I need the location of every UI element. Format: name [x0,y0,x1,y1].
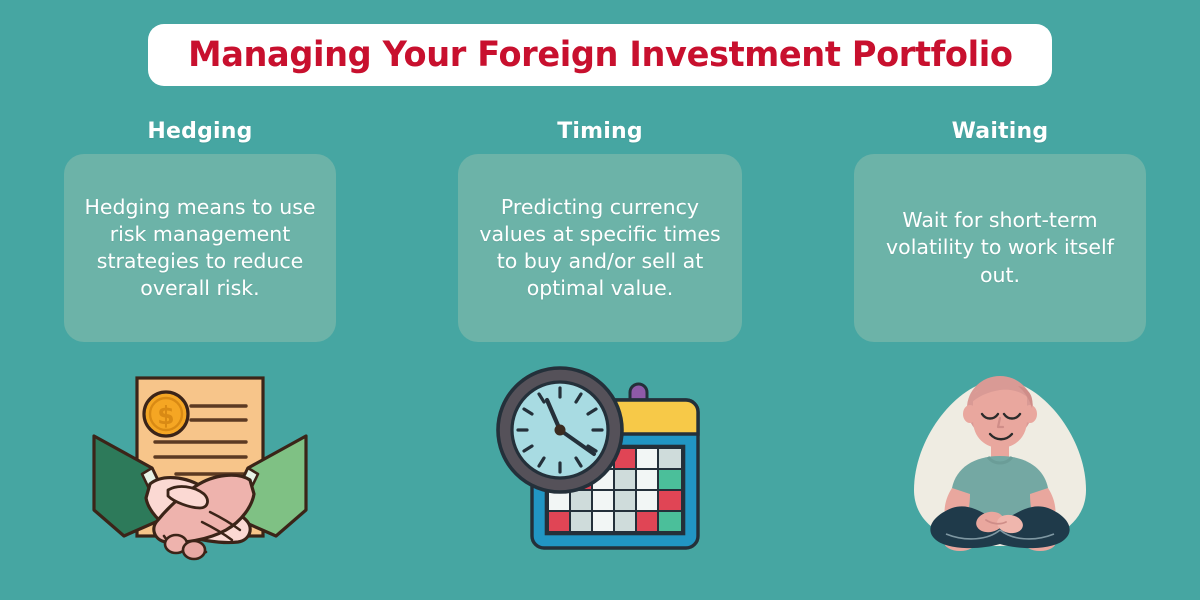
card-text-hedging: Hedging means to use risk management str… [82,194,318,303]
illustration-timing [490,364,710,564]
column-hedging: Hedging Hedging means to use risk manage… [0,110,400,590]
card-hedging: Hedging means to use risk management str… [64,154,336,342]
card-timing: Predicting currency values at specific t… [458,154,742,342]
svg-text:$: $ [157,401,174,430]
title-banner: Managing Your Foreign Investment Portfol… [148,24,1052,86]
illustration-waiting [890,364,1110,564]
page-title: Managing Your Foreign Investment Portfol… [188,35,1012,75]
card-text-waiting: Wait for short-term volatility to work i… [872,207,1128,289]
card-text-timing: Predicting currency values at specific t… [476,194,724,303]
column-heading-hedging: Hedging [147,110,252,154]
column-timing: Timing Predicting currency values at spe… [400,110,800,590]
handshake-contract-coin-icon: $ [90,364,310,564]
card-waiting: Wait for short-term volatility to work i… [854,154,1146,342]
column-heading-waiting: Waiting [952,110,1049,154]
column-heading-timing: Timing [557,110,643,154]
illustration-hedging: $ [90,364,310,564]
column-waiting: Waiting Wait for short-term volatility t… [800,110,1200,590]
meditating-person-icon [890,364,1110,564]
clock-calendar-icon [490,364,710,564]
columns-container: Hedging Hedging means to use risk manage… [0,110,1200,590]
